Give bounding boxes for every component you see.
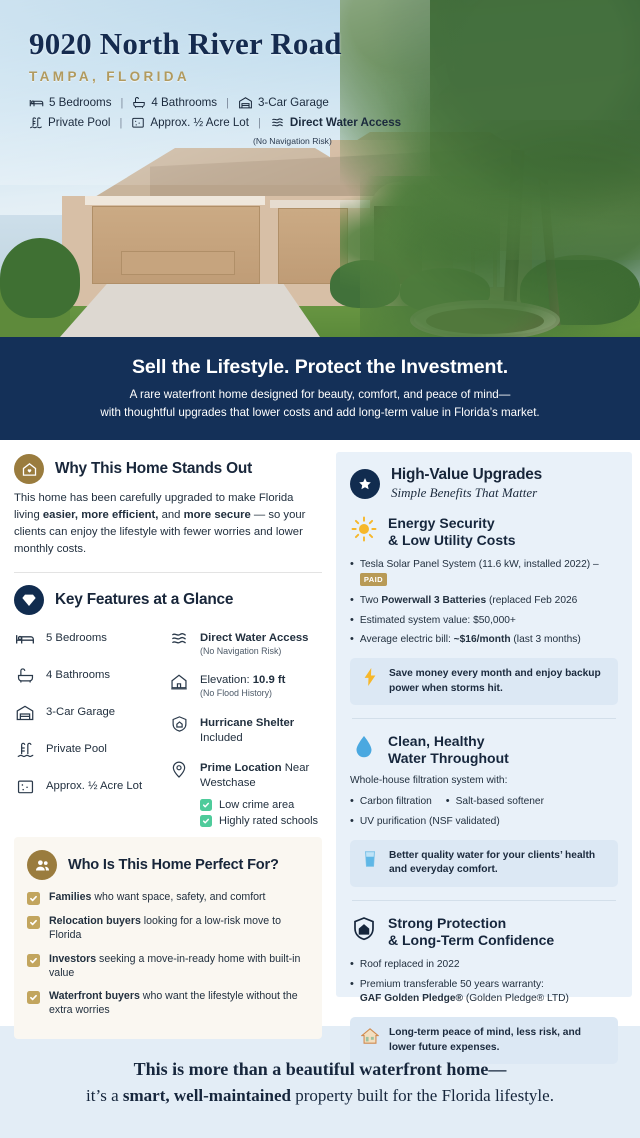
- why-body-bold-2: more secure: [184, 509, 251, 521]
- check-icon: [200, 815, 212, 827]
- pf-investors-bold: Investors: [49, 953, 96, 965]
- protection-bullet-roof-text: Roof replaced in 2022: [360, 958, 460, 973]
- perfect-for-header: Who Is This Home Perfect For?: [27, 850, 309, 880]
- key-features-grid: 5 Bedrooms 4 Bathrooms: [14, 628, 322, 832]
- left-divider-1: [14, 572, 322, 573]
- energy-bullet-bill: • Average electric bill: ~$16/month (las…: [350, 633, 618, 648]
- pool-ladder-icon: [14, 739, 36, 761]
- page-title: 9020 North River Road: [29, 27, 449, 60]
- shield-home-icon: [350, 915, 378, 943]
- key-features-right-list: Direct Water Access (No Navigation Risk): [168, 628, 322, 832]
- kf-bedrooms-label: 5 Bedrooms: [46, 628, 107, 646]
- key-features-checklist: Low crime area Highly rated schools: [200, 799, 322, 827]
- hero-spec-lot: Approx. ½ Acre Lot: [131, 116, 249, 129]
- check-icon: [27, 954, 40, 967]
- banner-subtitle: A rare waterfront home designed for beau…: [100, 386, 539, 421]
- kf-bathrooms: 4 Bathrooms: [14, 665, 168, 687]
- key-features-header: Key Features at a Glance: [14, 585, 322, 615]
- list-item: Relocation buyers looking for a low-risk…: [27, 915, 309, 943]
- why-body-2: and: [158, 509, 183, 521]
- bullet-dot: •: [350, 614, 354, 628]
- hero-spec-water-access: Direct Water Access: [270, 116, 401, 129]
- right-divider-1: [352, 718, 616, 719]
- protection-bullet-roof: • Roof replaced in 2022: [350, 958, 618, 973]
- footer-line-2: it’s a smart, well-maintained property b…: [86, 1086, 554, 1106]
- water-bullet-uv-text: UV purification (NSF validated): [360, 815, 500, 830]
- energy-bullets: • Tesla Solar Panel System (11.6 kW, ins…: [350, 558, 618, 648]
- kf-elevation: Elevation: 10.9 ft (No Flood History): [168, 670, 322, 699]
- protection-callout-text: Long-term peace of mind, less risk, and …: [389, 1026, 608, 1055]
- hero-spec-pool-label: Private Pool: [48, 116, 111, 129]
- kf-prime-location-text: Prime Location Near Westchase: [200, 758, 322, 791]
- energy-callout: Save money every month and enjoy backup …: [350, 658, 618, 705]
- banner-subtitle-line2: with thoughtful upgrades that lower cost…: [100, 406, 539, 419]
- diamond-icon: [14, 585, 44, 615]
- key-features-title: Key Features at a Glance: [55, 591, 233, 609]
- pf-relocation-bold: Relocation buyers: [49, 915, 141, 927]
- people-icon: [27, 850, 57, 880]
- lot-icon: [14, 776, 36, 798]
- perfect-for-list: Families who want space, safety, and com…: [27, 891, 309, 1018]
- kf-hurricane-shelter-rest: Included: [200, 732, 243, 744]
- shrub-left: [0, 238, 80, 318]
- garage-icon: [14, 702, 36, 724]
- footer-line-2-post: property built for the Florida lifestyle…: [291, 1086, 554, 1105]
- kf-check-low-crime-label: Low crime area: [219, 799, 294, 811]
- kf-hurricane-shelter: Hurricane Shelter Included: [168, 713, 322, 746]
- energy-bill-post: (last 3 months): [511, 634, 581, 645]
- kf-check-low-crime: Low crime area: [200, 799, 322, 811]
- check-icon: [27, 916, 40, 929]
- water-callout: Better quality water for your clients’ h…: [350, 840, 618, 887]
- water-bullet-carbon: Carbon filtration: [360, 795, 432, 810]
- hero-spec-water-access-label: Direct Water Access: [290, 116, 401, 129]
- energy-title-block: Energy Security & Low Utility Costs: [388, 515, 516, 549]
- pf-item-families: Families who want space, safety, and com…: [49, 891, 266, 905]
- hero-text-block: 9020 North River Road TAMPA, FLORIDA 5 B…: [29, 27, 449, 146]
- water-title-line2: Water Throughout: [388, 750, 509, 767]
- kf-garage-label: 3-Car Garage: [46, 702, 115, 720]
- bathtub-icon: [132, 96, 146, 109]
- bullet-dot: •: [350, 594, 354, 608]
- energy-bill-bold: ~$16/month: [454, 634, 511, 645]
- water-drop-icon: [350, 733, 378, 761]
- kf-garage: 3-Car Garage: [14, 702, 168, 724]
- flyer-page: 9020 North River Road TAMPA, FLORIDA 5 B…: [0, 0, 640, 1138]
- water-lead-line: Whole-house filtration system with:: [350, 775, 618, 786]
- right-column: High-Value Upgrades Simple Benefits That…: [336, 440, 640, 1026]
- shield-home-icon: [168, 713, 190, 735]
- home-heart-icon: [14, 454, 44, 484]
- protection-bullet-warranty-text: Premium transferable 50 years warranty: …: [360, 978, 569, 1008]
- hero-city: TAMPA, FLORIDA: [29, 69, 449, 84]
- footer-line-2-bold: smart, well-maintained: [123, 1086, 291, 1105]
- energy-solar-pre: Tesla Solar Panel System (11.6 kW, insta…: [360, 559, 599, 570]
- perfect-for-panel: Who Is This Home Perfect For? Families w…: [14, 837, 322, 1039]
- hero-spec-row-2: Private Pool | Approx. ½ Acre Lo: [29, 116, 449, 129]
- kf-water-access-title: Direct Water Access: [200, 628, 308, 646]
- pf-item-relocation: Relocation buyers looking for a low-risk…: [49, 915, 309, 943]
- hero-section: 9020 North River Road TAMPA, FLORIDA 5 B…: [0, 0, 640, 337]
- bullet-dot: •: [350, 958, 354, 972]
- footer-line-2-pre: it’s a: [86, 1086, 123, 1105]
- protection-section-header: Strong Protection & Long-Term Confidence: [350, 915, 618, 949]
- protection-title-line1: Strong Protection: [388, 915, 554, 932]
- bullet-dot: •: [446, 795, 450, 809]
- footer-line-1: This is more than a beautiful waterfront…: [134, 1059, 507, 1080]
- house-icon: [360, 1026, 380, 1045]
- upgrades-panel: High-Value Upgrades Simple Benefits That…: [336, 452, 632, 997]
- pf-families-rest: who want space, safety, and comfort: [91, 891, 265, 903]
- water-title-line1: Clean, Healthy: [388, 733, 509, 750]
- kf-check-schools-label: Highly rated schools: [219, 815, 318, 827]
- check-icon: [27, 991, 40, 1004]
- kf-pool-label: Private Pool: [46, 739, 107, 757]
- energy-bullet-powerwall: • Two Powerwall 3 Batteries (replaced Fe…: [350, 594, 618, 609]
- hero-spec-pool: Private Pool: [29, 116, 111, 129]
- protection-title-block: Strong Protection & Long-Term Confidence: [388, 915, 554, 949]
- banner-title: Sell the Lifestyle. Protect the Investme…: [132, 356, 508, 379]
- kf-check-schools: Highly rated schools: [200, 815, 322, 827]
- kf-lot: Approx. ½ Acre Lot: [14, 776, 168, 798]
- bullet-dot: •: [350, 815, 354, 829]
- water-section-header: Clean, Healthy Water Throughout: [350, 733, 618, 767]
- hero-spec-garage-label: 3-Car Garage: [258, 96, 329, 109]
- garage-icon: [238, 96, 253, 109]
- hero-spec-separator-1: |: [121, 97, 124, 109]
- map-pin-icon: [168, 758, 190, 780]
- upgrades-subtitle: Simple Benefits That Matter: [391, 485, 542, 501]
- kf-elevation-text: Elevation: 10.9 ft (No Flood History): [200, 670, 285, 699]
- upgrades-title-block: High-Value Upgrades Simple Benefits That…: [391, 466, 542, 501]
- protection-warranty-line1: Premium transferable 50 years warranty:: [360, 979, 544, 990]
- pf-item-investors: Investors seeking a move-in-ready home w…: [49, 953, 309, 981]
- pool-ladder-icon: [29, 116, 43, 129]
- list-item: Families who want space, safety, and com…: [27, 891, 309, 905]
- kf-hurricane-shelter-bold: Hurricane Shelter: [200, 717, 294, 729]
- kf-pool: Private Pool: [14, 739, 168, 761]
- protection-bullets: • Roof replaced in 2022 • Premium transf…: [350, 958, 618, 1007]
- perfect-for-title: Who Is This Home Perfect For?: [68, 857, 279, 873]
- bed-icon: [14, 628, 36, 650]
- kf-water-access: Direct Water Access (No Navigation Risk): [168, 628, 322, 657]
- right-divider-2: [352, 900, 616, 901]
- fascia-trim: [85, 196, 265, 205]
- hero-spec-garage: 3-Car Garage: [238, 96, 329, 109]
- bed-icon: [29, 96, 44, 109]
- hero-spec-lot-label: Approx. ½ Acre Lot: [150, 116, 249, 129]
- kf-elevation-bold: 10.9 ft: [253, 674, 286, 686]
- list-item: Waterfront buyers who want the lifestyle…: [27, 990, 309, 1018]
- hero-spec-bedrooms: 5 Bedrooms: [29, 96, 112, 109]
- pf-families-bold: Families: [49, 891, 91, 903]
- water-callout-text: Better quality water for your clients’ h…: [389, 849, 608, 878]
- status-badge: PAID: [360, 573, 387, 586]
- water-bullet-uv: • UV purification (NSF validated): [350, 815, 618, 830]
- bullet-dot: •: [350, 795, 354, 809]
- kf-elevation-title: Elevation: 10.9 ft: [200, 670, 285, 688]
- kf-prime-location-bold: Prime Location: [200, 762, 282, 774]
- pf-item-waterfront: Waterfront buyers who want the lifestyle…: [49, 990, 309, 1018]
- kf-water-access-text: Direct Water Access (No Navigation Risk): [200, 628, 308, 657]
- why-section-title: Why This Home Stands Out: [55, 460, 252, 478]
- energy-pw-bold: Powerwall 3 Batteries: [381, 595, 486, 606]
- bathtub-icon: [14, 665, 36, 687]
- energy-bullet-powerwall-text: Two Powerwall 3 Batteries (replaced Feb …: [360, 594, 577, 609]
- hero-spec-separator-4: |: [258, 117, 261, 129]
- kf-bedrooms: 5 Bedrooms: [14, 628, 168, 650]
- sun-icon: [350, 515, 378, 543]
- water-bullet-softener: Salt-based softener: [456, 795, 544, 810]
- star-icon: [350, 469, 380, 499]
- water-bullets: • Carbon filtration • Salt-based softene…: [350, 795, 618, 830]
- water-glass-icon: [360, 849, 380, 868]
- why-section-header: Why This Home Stands Out: [14, 454, 322, 484]
- hero-spec-bathrooms-label: 4 Bathrooms: [151, 96, 217, 109]
- hero-spec-bathrooms: 4 Bathrooms: [132, 96, 217, 109]
- banner-subtitle-line1: A rare waterfront home designed for beau…: [130, 388, 511, 401]
- check-icon: [200, 799, 212, 811]
- water-title-block: Clean, Healthy Water Throughout: [388, 733, 509, 767]
- lot-icon: [131, 116, 145, 129]
- key-features-left-list: 5 Bedrooms 4 Bathrooms: [14, 628, 168, 832]
- energy-bullet-solar-text: Tesla Solar Panel System (11.6 kW, insta…: [360, 558, 618, 589]
- why-body-bold-1: easier, more efficient,: [43, 509, 159, 521]
- kf-water-access-bold: Direct Water Access: [200, 632, 308, 644]
- hero-spec-separator-3: |: [120, 117, 123, 129]
- content-columns: Why This Home Stands Out This home has b…: [0, 440, 640, 1026]
- pf-waterfront-bold: Waterfront buyers: [49, 990, 140, 1002]
- why-section-body: This home has been carefully upgraded to…: [14, 490, 322, 559]
- hero-spec-bedrooms-label: 5 Bedrooms: [49, 96, 112, 109]
- bullet-dot: •: [350, 558, 354, 572]
- kf-prime-location: Prime Location Near Westchase: [168, 758, 322, 791]
- energy-bullet-solar: • Tesla Solar Panel System (11.6 kW, ins…: [350, 558, 618, 589]
- hero-water-note: (No Navigation Risk): [253, 136, 449, 146]
- energy-bill-pre: Average electric bill:: [360, 634, 454, 645]
- left-column: Why This Home Stands Out This home has b…: [0, 440, 336, 1026]
- energy-bullet-bill-text: Average electric bill: ~$16/month (last …: [360, 633, 581, 648]
- bullet-dot: •: [350, 633, 354, 647]
- bullet-dot: •: [350, 978, 354, 992]
- garage-door-double: [92, 206, 260, 284]
- waves-icon: [270, 116, 285, 129]
- waves-icon: [168, 628, 190, 650]
- water-bullet-row-1: • Carbon filtration • Salt-based softene…: [350, 795, 618, 810]
- protection-warranty-post: (Golden Pledge® LTD): [463, 993, 569, 1004]
- check-icon: [27, 892, 40, 905]
- protection-bullet-warranty: • Premium transferable 50 years warranty…: [350, 978, 618, 1008]
- kf-water-access-note: (No Navigation Risk): [200, 646, 308, 658]
- energy-pw-post: (replaced Feb 2026: [486, 595, 577, 606]
- elevation-home-icon: [168, 670, 190, 692]
- kf-elevation-note: (No Flood History): [200, 688, 285, 700]
- energy-bullet-value: • Estimated system value: $50,000+: [350, 614, 618, 629]
- energy-title-line1: Energy Security: [388, 515, 516, 532]
- energy-title-line2: & Low Utility Costs: [388, 532, 516, 549]
- kf-elevation-pre: Elevation:: [200, 674, 253, 686]
- lightning-icon: [360, 667, 380, 686]
- protection-callout: Long-term peace of mind, less risk, and …: [350, 1017, 618, 1064]
- energy-section-header: Energy Security & Low Utility Costs: [350, 515, 618, 549]
- energy-bullet-value-text: Estimated system value: $50,000+: [360, 614, 516, 629]
- kf-bathrooms-label: 4 Bathrooms: [46, 665, 110, 683]
- energy-pw-pre: Two: [360, 595, 382, 606]
- tagline-banner: Sell the Lifestyle. Protect the Investme…: [0, 337, 640, 440]
- list-item: Investors seeking a move-in-ready home w…: [27, 953, 309, 981]
- hero-spec-rows: 5 Bedrooms | 4 Bathrooms |: [29, 96, 449, 146]
- upgrades-title: High-Value Upgrades: [391, 466, 542, 484]
- protection-warranty-bold: GAF Golden Pledge®: [360, 993, 463, 1004]
- kf-hurricane-shelter-text: Hurricane Shelter Included: [200, 713, 322, 746]
- upgrades-header: High-Value Upgrades Simple Benefits That…: [350, 466, 618, 501]
- protection-title-line2: & Long-Term Confidence: [388, 932, 554, 949]
- hero-spec-row-1: 5 Bedrooms | 4 Bathrooms |: [29, 96, 449, 109]
- hero-spec-separator-2: |: [226, 97, 229, 109]
- kf-lot-label: Approx. ½ Acre Lot: [46, 776, 142, 794]
- energy-callout-text: Save money every month and enjoy backup …: [389, 667, 608, 696]
